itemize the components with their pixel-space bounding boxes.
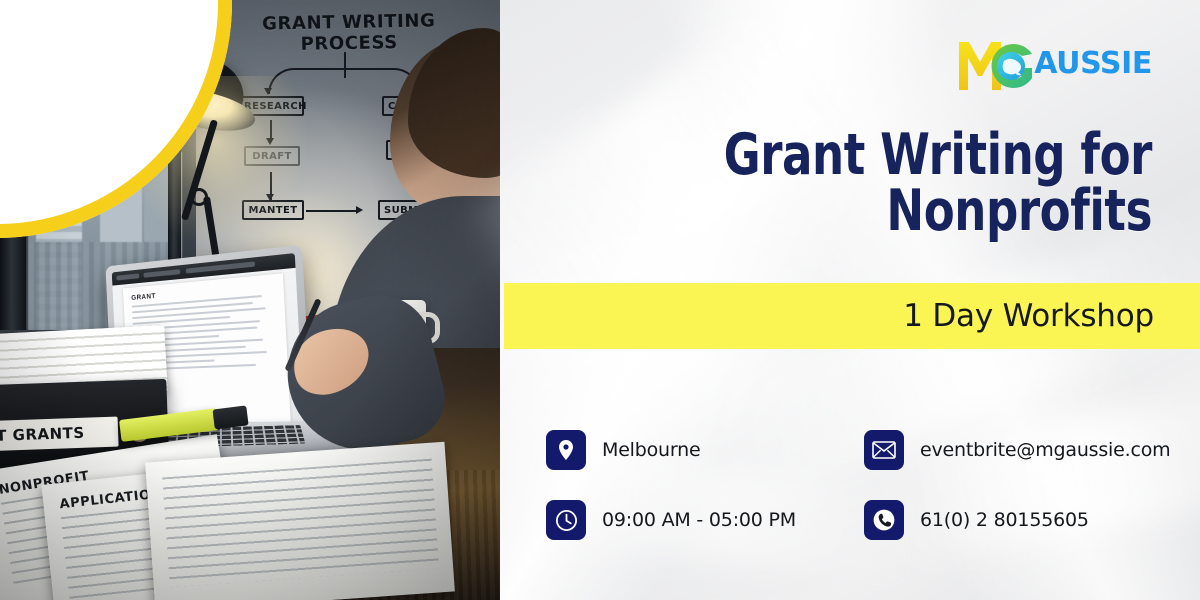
detail-time: 09:00 AM - 05:00 PM [546, 500, 864, 540]
mg-globe-australia-logo-icon [954, 34, 1040, 94]
info-panel: AUSSIE Grant Writing for Nonprofits 1 Da… [500, 0, 1200, 600]
binder-label: T GRANTS [0, 417, 119, 451]
event-banner: GRANT WRITING PROCESS RESEARCH CPROOSAL … [0, 0, 1200, 600]
brand-logo[interactable]: AUSSIE [954, 34, 1152, 94]
detail-location: Melbourne [546, 430, 864, 470]
workshop-badge: 1 Day Workshop [504, 283, 1200, 349]
title-line-2: Nonprofits [624, 184, 1152, 240]
location-pin-icon [546, 430, 586, 470]
flow-curve [268, 68, 420, 94]
envelope-icon [864, 430, 904, 470]
title-line-1: Grant Writing for [624, 128, 1152, 184]
time-value: 09:00 AM - 05:00 PM [602, 509, 796, 531]
flow-node-mantet: MANTET [242, 200, 304, 220]
detail-email[interactable]: eventbrite@mgaussie.com [864, 430, 1186, 470]
event-photo: GRANT WRITING PROCESS RESEARCH CPROOSAL … [0, 0, 500, 600]
flow-arrow-a [266, 138, 274, 145]
page-title: Grant Writing for Nonprofits [624, 128, 1152, 240]
paper-sheet [145, 442, 455, 600]
brand-logo-text: AUSSIE [1034, 49, 1152, 79]
yellow-arc-decoration [0, 0, 240, 320]
flow-arrow-left [264, 88, 272, 95]
clock-icon [546, 500, 586, 540]
paper-rules [162, 459, 439, 588]
event-details: Melbourne eventbrite@mgaussie.com 09:00 … [546, 415, 1186, 555]
flow-line-e [306, 210, 358, 212]
flow-arrow-e [356, 206, 363, 214]
arc-yellow-ring [0, 0, 232, 238]
workshop-badge-label: 1 Day Workshop [903, 298, 1200, 334]
flow-node-hidden: DRAFT [244, 146, 300, 166]
email-value: eventbrite@mgaussie.com [920, 439, 1170, 461]
detail-phone[interactable]: 61(0) 2 80155605 [864, 500, 1186, 540]
phone-icon [864, 500, 904, 540]
location-value: Melbourne [602, 439, 701, 461]
phone-value: 61(0) 2 80155605 [920, 509, 1089, 531]
